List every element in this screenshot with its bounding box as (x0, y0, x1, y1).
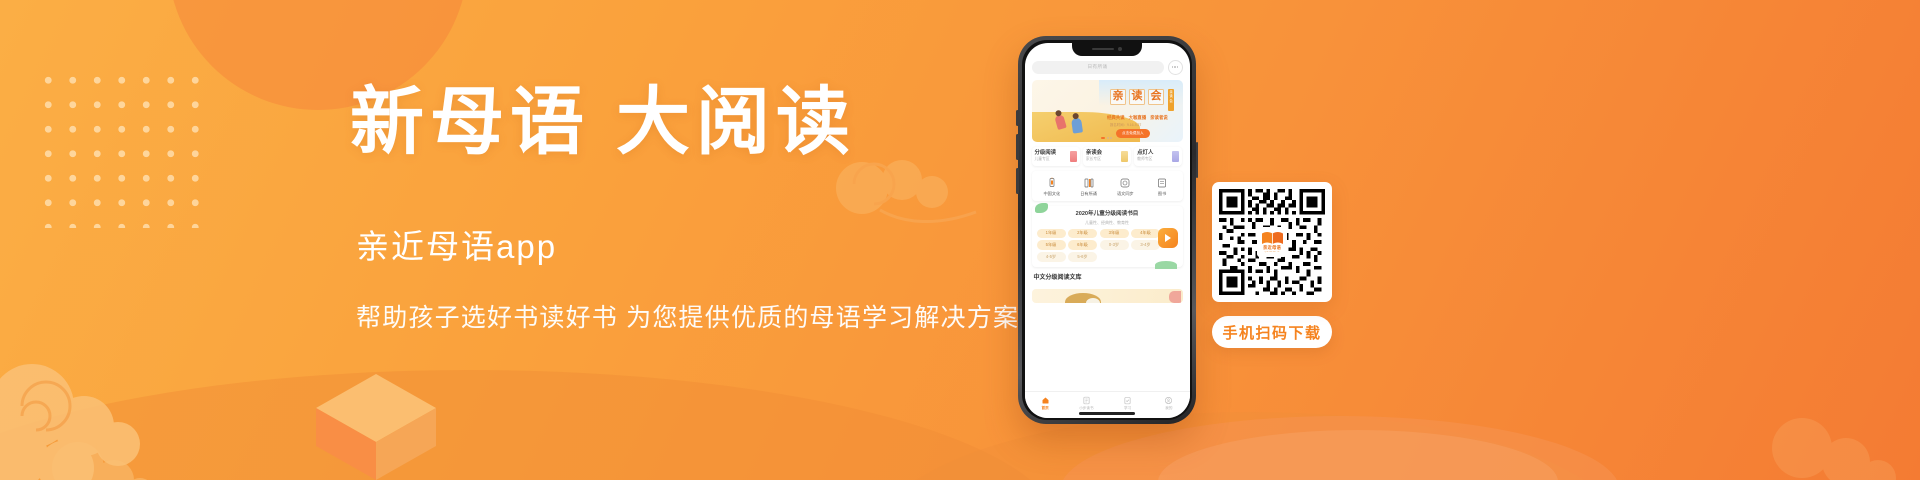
hero-subtitle-1: 经典共读 (1107, 115, 1125, 121)
quick-link-label: 日有所诵 (1080, 192, 1097, 196)
quick-link-label: 中国文化 (1043, 192, 1060, 196)
home-icon (1041, 396, 1050, 405)
hero-cta-button[interactable]: 点击免费加入 (1116, 129, 1150, 138)
category-card-graded-reading[interactable]: 分级阅读 儿童专区 (1032, 147, 1080, 167)
category-cards: 分级阅读 儿童专区 亲读会 家长专区 点灯人 教师专区 (1032, 147, 1183, 167)
tab-label: 首页 (1042, 407, 1049, 411)
hero-seal: 亲读会 (1168, 89, 1174, 111)
quick-link-books[interactable]: 图书 (1144, 177, 1181, 196)
speaker-grille-icon (1092, 48, 1114, 50)
quick-link-label: 图书 (1158, 192, 1166, 196)
cloud-decoration-small (44, 424, 164, 480)
phone-shadow-ellipse (1060, 416, 1620, 480)
phone-mute-button (1016, 110, 1019, 126)
qr-block: 亲近母语 QIN JIN MU YU 手机扫码下载 (1212, 182, 1332, 348)
hill-decoration-secondary (880, 412, 1620, 480)
download-button[interactable]: 手机扫码下载 (1212, 316, 1332, 348)
logo-subtitle: QIN JIN MU YU (1265, 251, 1280, 253)
open-book-icon (1261, 231, 1284, 245)
age-chip[interactable]: 4-5岁 (1037, 252, 1066, 261)
library-title: 中文分级阅读文库 (1032, 272, 1183, 281)
phone-shadow-ellipse-inner (1158, 430, 1558, 480)
list-icon (1082, 396, 1091, 405)
app-content: 日有所诵 亲 读 会 亲读会 (1025, 43, 1190, 391)
sync-icon (1119, 177, 1131, 189)
tab-profile[interactable]: 我的 (1148, 396, 1189, 411)
grade-chip[interactable]: 5年级 (1037, 240, 1066, 249)
cloud-decoration-bottom-left (0, 352, 184, 480)
age-chip[interactable]: 5-6岁 (1068, 252, 1097, 261)
carousel-indicator[interactable] (1101, 137, 1112, 139)
headline-part-1: 新母语 (350, 82, 590, 164)
check-icon (1123, 396, 1132, 405)
quick-links: 中国文化 日有所诵 (1032, 171, 1183, 201)
phone-volume-down-button (1016, 168, 1019, 194)
phone-screen: 日有所诵 亲 读 会 亲读会 (1025, 43, 1190, 418)
hero-title-char-2: 读 (1129, 89, 1145, 105)
leaf-decoration-secondary (1155, 261, 1177, 269)
tab-home[interactable]: 首页 (1025, 396, 1066, 411)
hero-date: 报名时间：9.16-9.27 (1110, 122, 1141, 127)
age-chip[interactable]: 0-3岁 (1100, 240, 1129, 249)
category-card-parent-club[interactable]: 亲读会 家长专区 (1083, 147, 1131, 167)
logo-title: 亲近母语 (1263, 246, 1281, 250)
booklist-section: 2020年儿童分级阅读书目 儿童性、经典性、教育性 1年级 2年级 3年级 4年… (1032, 206, 1183, 266)
booklist-title: 2020年儿童分级阅读书目 (1037, 212, 1178, 218)
front-camera-icon (1118, 47, 1122, 51)
book-stack-icon (1083, 177, 1095, 189)
cube-decoration (312, 364, 440, 480)
tab-study[interactable]: 学习 (1107, 396, 1148, 411)
library-card[interactable] (1032, 289, 1183, 303)
hero-title-char-1: 亲 (1110, 89, 1126, 105)
tab-label: 小步读书 (1079, 407, 1093, 411)
grade-chips: 1年级 2年级 3年级 4年级 5年级 6年级 0-3岁 3-4岁 4-5岁 5… (1037, 229, 1178, 262)
grade-chip[interactable]: 6年级 (1068, 240, 1097, 249)
grade-chip[interactable]: 1年级 (1037, 229, 1066, 238)
grade-chip[interactable]: 2年级 (1068, 229, 1097, 238)
hero-banner[interactable]: 亲 读 会 亲读会 经典共读 大咖直播 亲读者说 报名时间：9.16-9.27 … (1032, 80, 1183, 142)
age-chip[interactable]: 3-4岁 (1131, 240, 1160, 249)
tab-label: 学习 (1124, 407, 1131, 411)
booklist-subtitle: 儿童性、经典性、教育性 (1037, 221, 1178, 225)
phone-mockup: 日有所诵 亲 读 会 亲读会 (1018, 36, 1196, 424)
more-options-icon[interactable] (1168, 60, 1183, 75)
hero-subtitle-2: 大咖直播 (1129, 115, 1147, 121)
hero-title-char-3: 会 (1148, 89, 1164, 105)
subtitle: 亲近母语app (356, 220, 1050, 268)
hero-title: 亲 读 会 亲读会 (1110, 89, 1174, 111)
copy-block: 新母语大阅读 亲近母语app 帮助孩子选好书读好书 为您提供优质的母语学习解决方… (350, 84, 1050, 334)
quick-link-culture[interactable]: 中国文化 (1034, 177, 1071, 196)
qr-code[interactable]: 亲近母语 QIN JIN MU YU (1212, 182, 1332, 302)
tagline: 帮助孩子选好书读好书 为您提供优质的母语学习解决方案 (356, 298, 1050, 334)
quick-link-label: 语文同步 (1117, 192, 1134, 196)
tab-reading[interactable]: 小步读书 (1066, 396, 1107, 411)
bookmark-icon (1121, 151, 1128, 162)
hero-subtitle-3: 亲读者说 (1150, 115, 1168, 121)
promo-banner: 新母语大阅读 亲近母语app 帮助孩子选好书读好书 为您提供优质的母语学习解决方… (0, 0, 1920, 480)
books-icon (1156, 177, 1168, 189)
bookmark-icon (1070, 151, 1077, 162)
quick-link-sync[interactable]: 语文同步 (1107, 177, 1144, 196)
phone-power-button (1196, 142, 1199, 178)
grade-chip[interactable]: 4年级 (1131, 229, 1160, 238)
phone-volume-up-button (1016, 134, 1019, 160)
page-title: 新母语大阅读 (350, 84, 1050, 164)
phone-bezel: 日有所诵 亲 读 会 亲读会 (1022, 40, 1192, 420)
bookmark-icon (1172, 151, 1179, 162)
quick-link-daily-recite[interactable]: 日有所诵 (1070, 177, 1107, 196)
qr-center-logo: 亲近母语 QIN JIN MU YU (1257, 227, 1287, 257)
headline-part-2: 大阅读 (616, 82, 856, 164)
grade-chip[interactable]: 3年级 (1100, 229, 1129, 238)
play-video-button[interactable] (1158, 228, 1178, 248)
hill-decoration (0, 370, 1060, 480)
culture-icon (1046, 177, 1058, 189)
cloud-decoration-bottom-right (1762, 396, 1912, 480)
dot-grid-decoration (36, 68, 212, 228)
person-icon (1164, 396, 1173, 405)
search-input[interactable]: 日有所诵 (1032, 61, 1164, 74)
search-row: 日有所诵 (1032, 60, 1183, 75)
home-indicator (1079, 412, 1135, 415)
category-card-teacher[interactable]: 点灯人 教师专区 (1134, 147, 1182, 167)
phone-notch (1072, 43, 1142, 56)
hero-subtitles: 经典共读 大咖直播 亲读者说 (1107, 115, 1168, 121)
tab-label: 我的 (1165, 407, 1172, 411)
